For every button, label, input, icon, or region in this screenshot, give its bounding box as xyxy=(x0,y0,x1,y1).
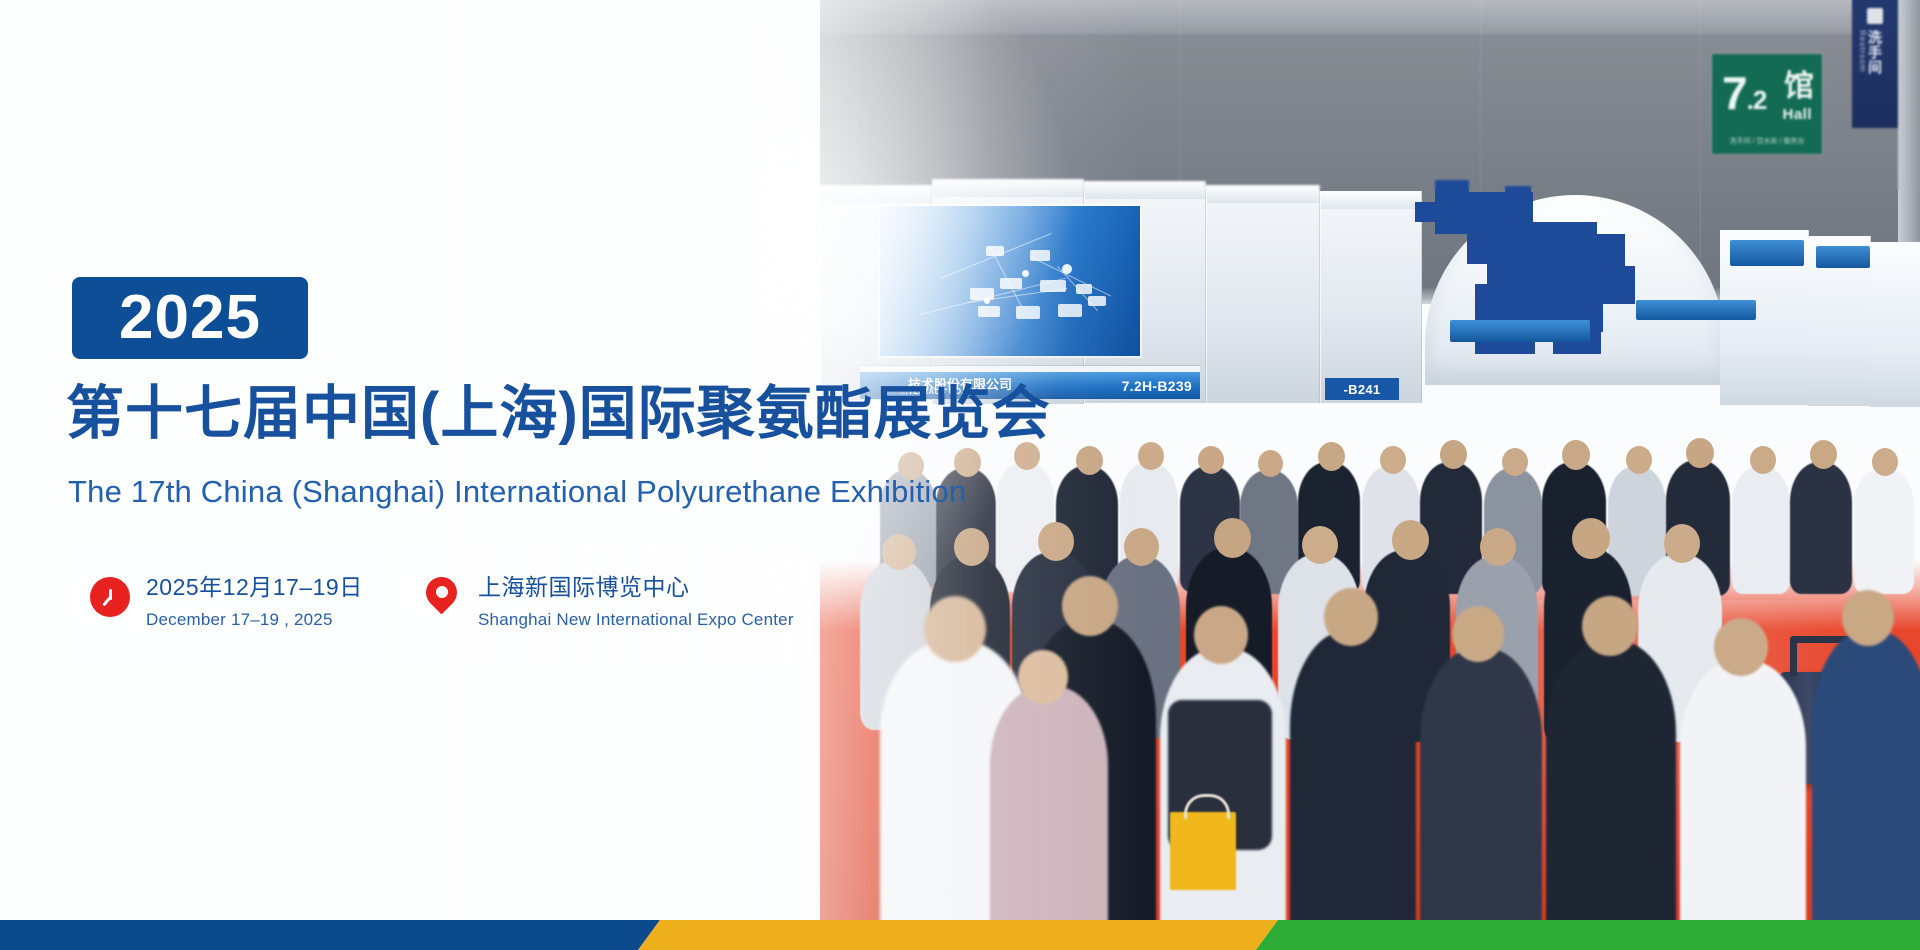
booth-number: 7.2H-B239 xyxy=(1122,378,1192,394)
event-venue-text: 上海新国际博览中心 Shanghai New International Exp… xyxy=(478,573,794,631)
year-badge-label: 2025 xyxy=(119,287,261,349)
restroom-sign: 洗手间 Restroom xyxy=(1852,0,1898,128)
bottom-bar-segment-blue xyxy=(0,920,660,950)
booth-number-secondary: -B241 xyxy=(1325,378,1399,400)
restroom-sign-en: Restroom xyxy=(1858,30,1867,73)
exhibition-banner: 7.2 馆 Hall 洗手间 / 饮水处 / 服务台 洗手间 Restroom xyxy=(0,0,1920,950)
hall-sign-footnote: 洗手间 / 饮水处 / 服务台 xyxy=(1720,136,1814,146)
event-date-text: 2025年12月17–19日 December 17–19 , 2025 xyxy=(146,573,363,631)
event-venue-card: 上海新国际博览中心 Shanghai New International Exp… xyxy=(400,545,812,665)
banner-content: 2025 第十七届中国(上海)国际聚氨酯展览会 The 17th China (… xyxy=(0,0,1100,950)
hall-number-sign: 7.2 馆 Hall 洗手间 / 饮水处 / 服务台 xyxy=(1712,54,1822,154)
hall-sign-number: 7.2 xyxy=(1722,70,1766,116)
page-title-cn: 第十七届中国(上海)国际聚氨酯展览会 xyxy=(66,382,1051,446)
far-booth-sign xyxy=(1450,320,1590,342)
restroom-pictogram-icon xyxy=(1867,8,1883,24)
booth-structure xyxy=(1206,185,1320,403)
booth-header xyxy=(1207,185,1319,203)
event-date-cn: 2025年12月17–19日 xyxy=(146,573,363,603)
far-booth xyxy=(1870,242,1920,407)
clock-icon xyxy=(90,577,132,619)
yellow-tote-bag xyxy=(1170,812,1236,890)
hall-sign-en-label: Hall xyxy=(1782,106,1812,123)
event-venue-cn: 上海新国际博览中心 xyxy=(478,573,794,603)
bottom-bar-segment-green xyxy=(1256,920,1920,950)
far-booth-sign xyxy=(1816,246,1870,268)
event-date-en: December 17–19 , 2025 xyxy=(146,609,363,631)
restroom-sign-cn: 洗手间 xyxy=(1865,30,1885,75)
far-booth-sign xyxy=(1636,300,1756,320)
bottom-color-bar xyxy=(0,920,1920,950)
hall-sign-cn-label: 馆 xyxy=(1784,72,1814,102)
page-title-en: The 17th China (Shanghai) International … xyxy=(68,474,966,510)
booth-header xyxy=(1085,181,1205,199)
pin-hole xyxy=(436,586,448,598)
bottom-bar-segment-yellow xyxy=(638,920,1278,950)
location-pin-icon xyxy=(422,577,464,619)
year-badge: 2025 xyxy=(72,277,308,359)
far-booth-sign xyxy=(1730,240,1804,266)
event-venue-en: Shanghai New International Expo Center xyxy=(478,609,794,631)
event-date-card: 2025年12月17–19日 December 17–19 , 2025 xyxy=(68,545,388,665)
